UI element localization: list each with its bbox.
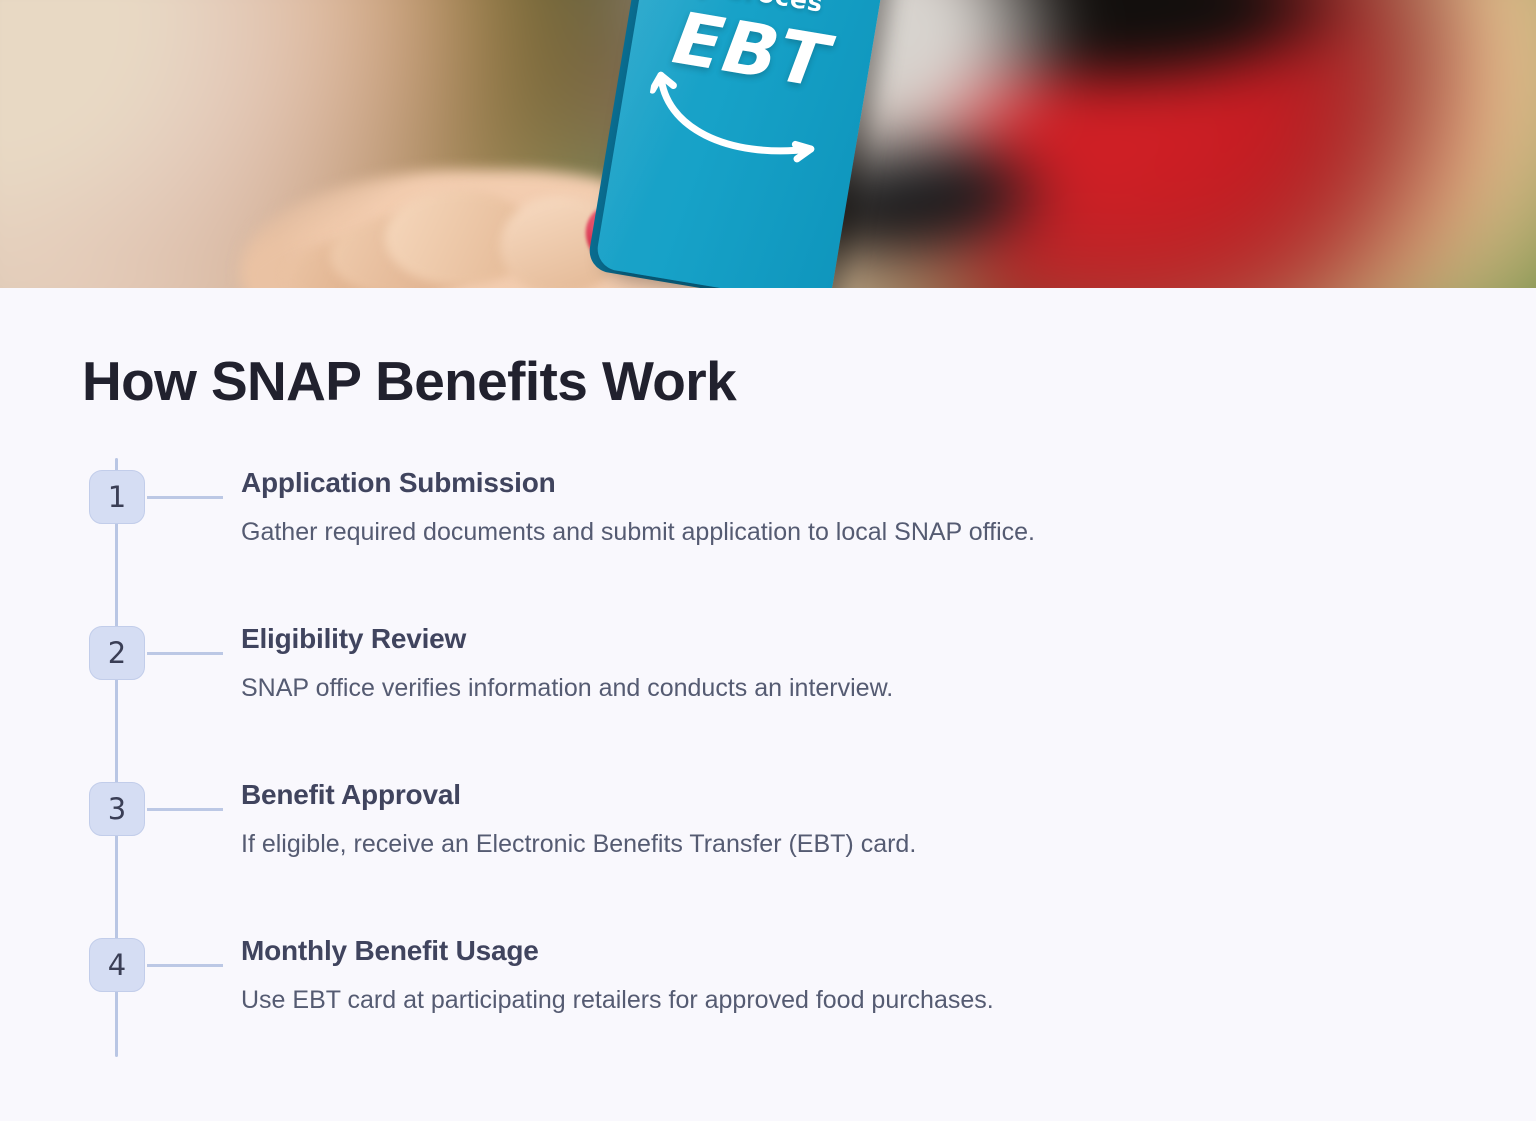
step-body: Eligibility Review SNAP office verifies … <box>241 622 1341 705</box>
step-title: Monthly Benefit Usage <box>241 934 1341 968</box>
step-description: Use EBT card at participating retailers … <box>241 984 1341 1018</box>
step-title: Benefit Approval <box>241 778 1341 812</box>
step-number-badge: 4 <box>89 938 145 992</box>
step-number-badge: 1 <box>89 470 145 524</box>
arrow-swoosh-icon <box>641 68 841 176</box>
step-body: Benefit Approval If eligible, receive an… <box>241 778 1341 861</box>
step-description: SNAP office verifies information and con… <box>241 672 1341 706</box>
step-body: Monthly Benefit Usage Use EBT card at pa… <box>241 934 1341 1017</box>
step-title: Eligibility Review <box>241 622 1341 656</box>
step-number-badge: 3 <box>89 782 145 836</box>
step-body: Application Submission Gather required d… <box>241 466 1341 549</box>
step-title: Application Submission <box>241 466 1341 500</box>
step-description: If eligible, receive an Electronic Benef… <box>241 828 1341 862</box>
step-number-badge: 2 <box>89 626 145 680</box>
hero-image: y Groces EBT <box>0 0 1536 288</box>
content-area: How SNAP Benefits Work 1 Application Sub… <box>0 288 1536 1121</box>
step-description: Gather required documents and submit app… <box>241 516 1341 550</box>
step-connector-line <box>147 808 223 811</box>
infographic-page: y Groces EBT How SNAP Benefits Work 1 Ap… <box>0 0 1536 1121</box>
steps-timeline: 1 Application Submission Gather required… <box>0 288 1536 1121</box>
ebt-card-label: EBT <box>627 0 876 111</box>
step-connector-line <box>147 652 223 655</box>
step-connector-line <box>147 964 223 967</box>
step-connector-line <box>147 496 223 499</box>
ebt-card-brand-text: y Groces <box>641 0 881 27</box>
